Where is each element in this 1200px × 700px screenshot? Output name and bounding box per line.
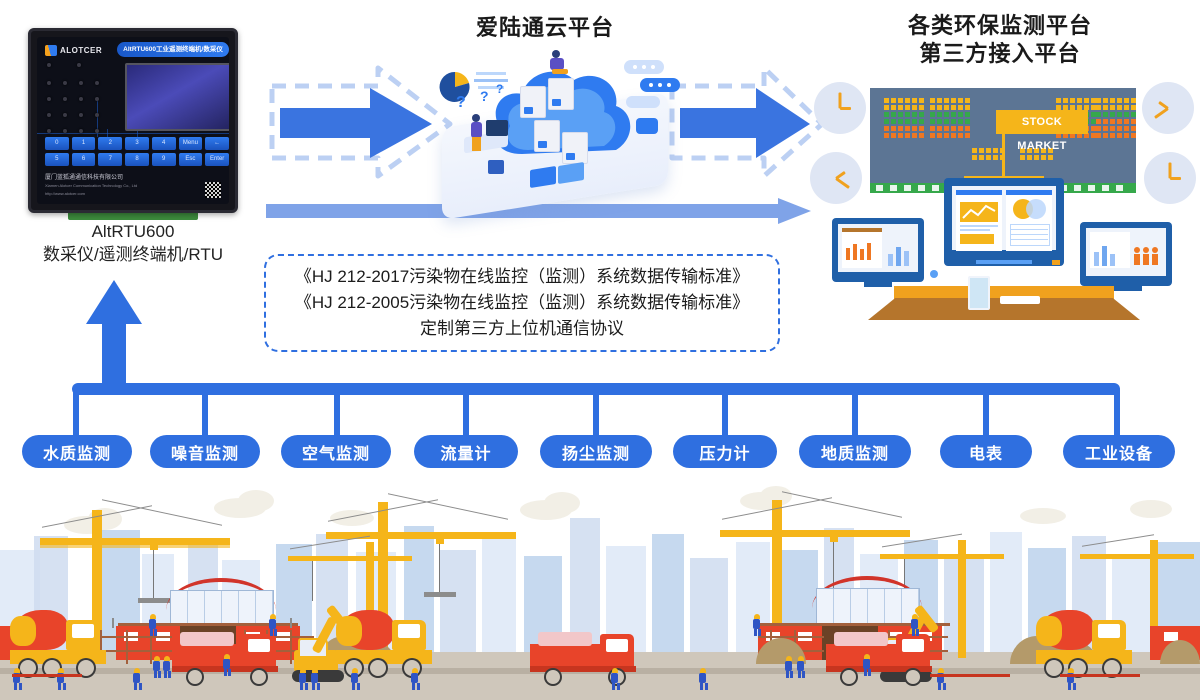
server-rack — [520, 86, 546, 118]
question-mark-icon: ? — [480, 88, 489, 104]
bus-leg — [852, 389, 858, 439]
board-dot-matrix — [1096, 98, 1136, 138]
bus-leg — [202, 389, 208, 439]
sensor-button-noise[interactable]: 噪音监测 — [150, 435, 260, 468]
clock-icon — [814, 82, 866, 134]
keypad-key[interactable]: 2 — [98, 137, 122, 150]
keypad-key[interactable]: 7 — [98, 153, 122, 166]
keypad-key[interactable]: 8 — [125, 153, 149, 166]
keypad-key[interactable]: 4 — [152, 137, 176, 150]
alotcer-logo-text: ALOTCER — [60, 46, 102, 55]
keypad-key[interactable]: 6 — [72, 153, 96, 166]
alotcer-logo-mark — [45, 45, 57, 56]
led-di7 — [95, 113, 99, 117]
keypad-key[interactable]: 1 — [72, 137, 96, 150]
led-alarm — [95, 81, 99, 85]
arrow-device-to-cloud — [266, 62, 456, 182]
keypad-key[interactable]: 5 — [45, 153, 69, 166]
keypad-key[interactable]: 0 — [45, 137, 69, 150]
rtu-device-image: ALOTCER AltRTU600工业遥测终端机/数采仪 — [28, 28, 238, 213]
line-chart-icon — [960, 202, 998, 222]
device-company-text: 厦门蓝狐通通信科技有限公司 Xiamen Alotcer Communicati… — [45, 174, 137, 198]
protocol-line: 定制第三方上位机通信协议 — [420, 316, 624, 342]
device-model-banner: AltRTU600工业遥测终端机/数采仪 — [117, 42, 229, 57]
server-rack — [548, 78, 574, 110]
case-icon — [488, 160, 504, 174]
server-rack — [562, 132, 588, 164]
device-company-en: Xiamen Alotcer Communication Technology … — [45, 182, 137, 190]
people-icon — [1132, 246, 1164, 266]
device-lamp-row-2 — [47, 81, 99, 85]
chat-bubble-icon — [640, 78, 680, 92]
keypad-key-esc[interactable]: Esc — [179, 153, 203, 166]
sensor-button-flow-meter[interactable]: 流量计 — [414, 435, 518, 468]
sensor-button-industrial-equipment[interactable]: 工业设备 — [1063, 435, 1175, 468]
device-lcd-screen — [125, 63, 229, 131]
bus-leg — [593, 389, 599, 439]
led-do1 — [95, 97, 99, 101]
protocol-line: 《HJ 212-2005污染物在线监控（监测）系统数据传输标准》 — [295, 290, 749, 316]
chat-bubble-icon — [624, 60, 664, 74]
led-di0 — [47, 97, 51, 101]
phone-icon — [968, 276, 990, 310]
board-dot-matrix — [972, 148, 1005, 160]
sensor-button-water-quality[interactable]: 水质监测 — [22, 435, 132, 468]
led-di4 — [47, 113, 51, 117]
led-relay3 — [95, 129, 99, 133]
led-run — [79, 81, 83, 85]
device-keypad[interactable]: 0 1 2 3 4 Menu ← 5 6 7 8 9 Esc Enter — [45, 137, 229, 166]
board-dot-matrix — [930, 98, 970, 138]
stock-market-label: STOCK MARKET — [996, 110, 1088, 134]
monitoring-platform-illustration: STOCK MARKET — [808, 70, 1198, 320]
led-do0 — [79, 97, 83, 101]
bus-leg — [73, 389, 79, 439]
monitor-icon — [486, 120, 508, 136]
led-power — [47, 63, 51, 67]
server-rack — [534, 120, 560, 152]
qr-code-icon — [205, 182, 221, 198]
device-faceplate: ALOTCER AltRTU600工业遥测终端机/数采仪 — [37, 37, 229, 204]
construction-site-scene — [0, 478, 1200, 700]
keypad-key-menu[interactable]: Menu — [179, 137, 203, 150]
bus-leg — [463, 389, 469, 439]
keypad-key[interactable]: 3 — [125, 137, 149, 150]
device-caption: AltRTU600 数采仪/遥测终端机/RTU — [18, 220, 248, 266]
led-di6 — [79, 113, 83, 117]
bus-leg — [1114, 389, 1120, 439]
device-website: http://www.alotcer.com — [45, 190, 137, 198]
sensor-button-pressure-gauge[interactable]: 压力计 — [673, 435, 777, 468]
bus-leg — [983, 389, 989, 439]
protocol-standards-box: 《HJ 212-2017污染物在线监控（监测）系统数据传输标准》 《HJ 212… — [264, 254, 780, 352]
monitoring-platform-title: 各类环保监测平台 第三方接入平台 — [840, 12, 1160, 68]
led-sim1 — [47, 81, 51, 85]
clock-icon — [1144, 152, 1196, 204]
pie-chart-icon — [438, 70, 472, 104]
device-lamp-row-3 — [47, 97, 99, 101]
protocol-line: 《HJ 212-2017污染物在线监控（监测）系统数据传输标准》 — [295, 264, 749, 290]
led-relay1 — [63, 129, 67, 133]
clock-icon — [810, 152, 862, 204]
device-lamp-row-relays — [47, 129, 99, 133]
bus-leg — [722, 389, 728, 439]
sensor-button-dust[interactable]: 扬尘监测 — [540, 435, 652, 468]
bar-chart-icon — [844, 240, 878, 262]
cloud-platform-illustration: ? ? ? — [430, 48, 680, 208]
arrow-cloud-to-platform — [668, 62, 828, 182]
arrow-sensors-to-device — [84, 280, 144, 388]
diagram-canvas: 爱陆通云平台 各类环保监测平台 第三方接入平台 ALOTCER — [0, 0, 1200, 700]
bus-leg — [334, 389, 340, 439]
chat-bubble-icon — [636, 118, 658, 134]
keyboard-icon — [1000, 296, 1040, 304]
device-lamp-row-power — [47, 63, 81, 67]
sensor-button-geology[interactable]: 地质监测 — [799, 435, 911, 468]
device-body: ALOTCER AltRTU600工业遥测终端机/数采仪 — [28, 28, 238, 213]
keypad-key-enter[interactable]: Enter — [205, 153, 229, 166]
question-mark-icon: ? — [456, 94, 466, 112]
board-dot-matrix — [884, 98, 924, 138]
device-connector-strip — [68, 212, 198, 220]
led-online — [77, 63, 81, 67]
cloud-platform-title: 爱陆通云平台 — [395, 14, 695, 42]
sensor-button-air[interactable]: 空气监测 — [281, 435, 391, 468]
pie-chart-icon — [1010, 198, 1048, 220]
clock-icon — [1142, 82, 1194, 134]
bar-chart-icon — [1092, 242, 1126, 266]
device-lamp-row-4 — [47, 113, 99, 117]
alotcer-logo: ALOTCER — [45, 43, 113, 57]
led-relay0 — [47, 129, 51, 133]
question-mark-icon: ? — [496, 82, 503, 96]
led-di5 — [63, 113, 67, 117]
led-sim2 — [63, 81, 67, 85]
sensor-button-electric-meter[interactable]: 电表 — [940, 435, 1032, 468]
led-di1 — [63, 97, 67, 101]
led-relay2 — [79, 129, 83, 133]
device-company-cn: 厦门蓝狐通通信科技有限公司 — [45, 175, 123, 181]
keypad-key[interactable]: 9 — [152, 153, 176, 166]
bar-chart-icon — [886, 242, 914, 266]
chat-bubble-icon — [626, 96, 660, 108]
keypad-key-left[interactable]: ← — [205, 137, 229, 150]
